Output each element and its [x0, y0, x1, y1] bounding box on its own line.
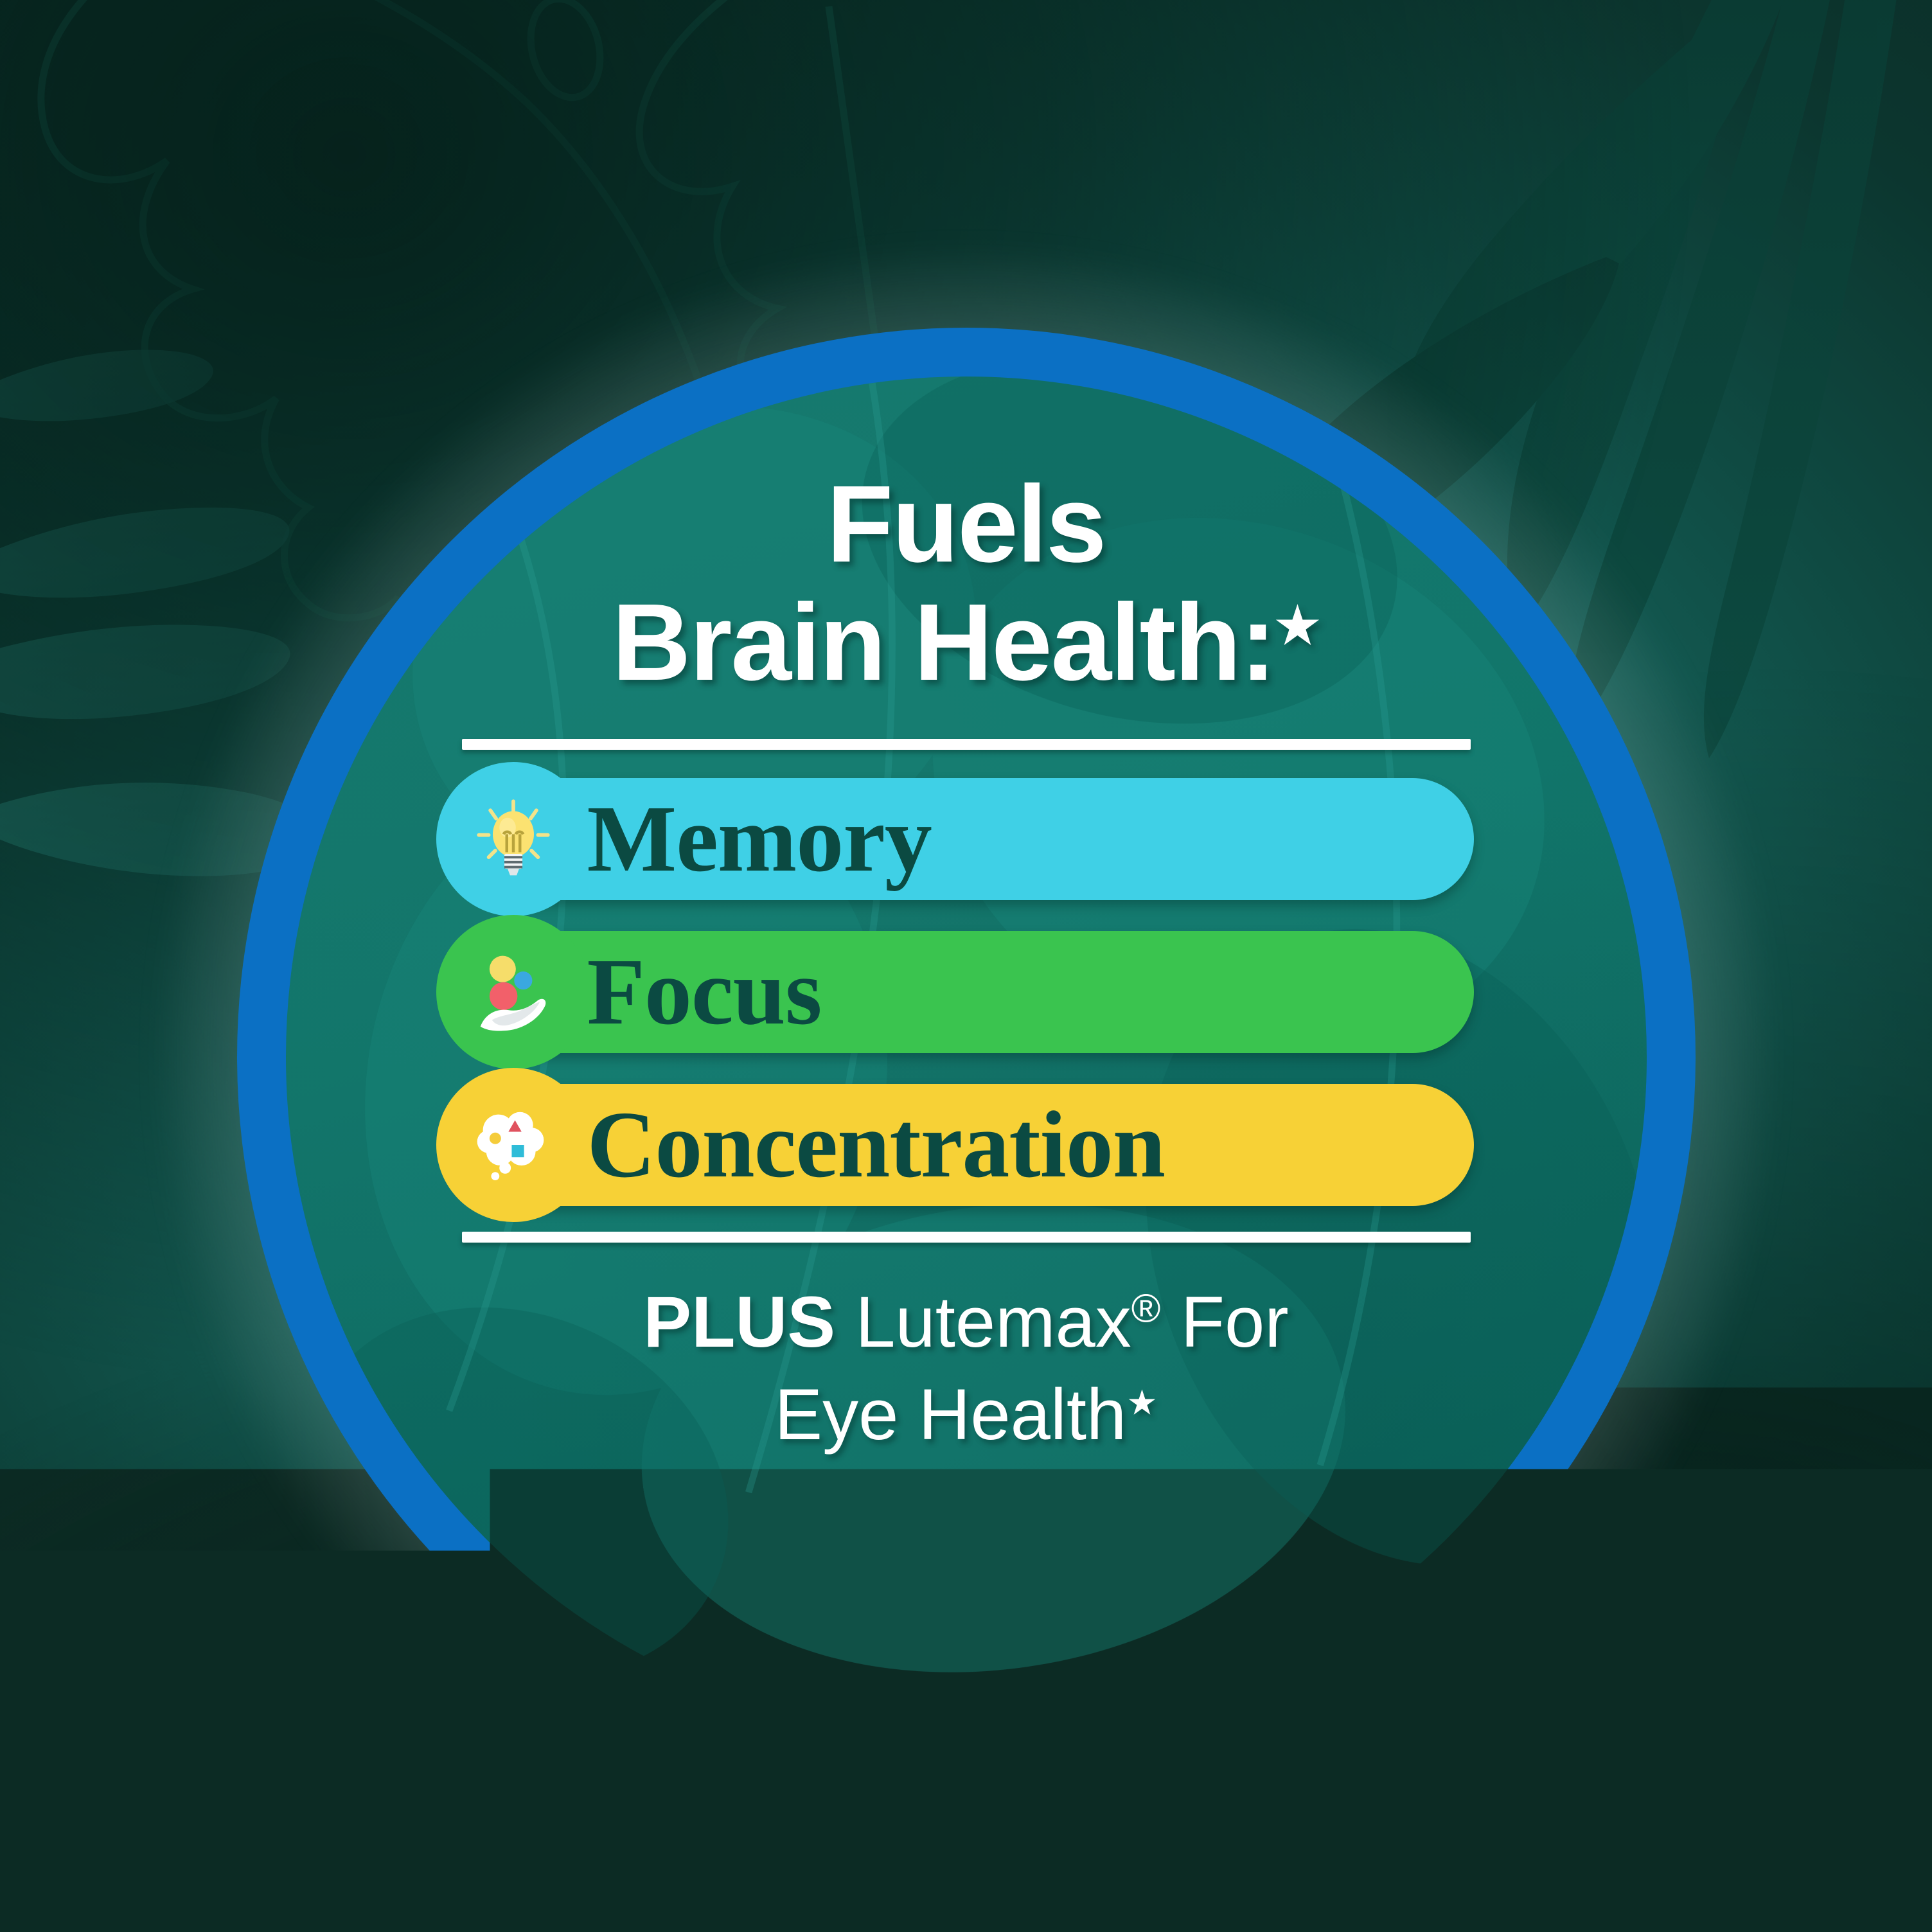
benefit-label-concentration: Concentration	[587, 1097, 1165, 1192]
promo-graphic: Fuels Brain Health:★	[0, 0, 1932, 1932]
plus-statement: PLUS Lutemax® For Eye Health★	[420, 1276, 1512, 1460]
thought-cloud-icon	[472, 1104, 554, 1186]
plus-for-word: For	[1160, 1282, 1288, 1362]
footer-bar: ★ THESE STATEMENTS HAVE NOT BEEN EVALUAT…	[0, 1876, 1932, 1932]
plus-eye-health-text: Eye Health	[774, 1374, 1126, 1455]
footer-disclaimer-text: THESE STATEMENTS HAVE NOT BEEN EVALUATED…	[33, 1891, 1932, 1917]
hand-balls-icon	[472, 951, 554, 1033]
benefit-badge-concentration	[436, 1068, 590, 1222]
divider-top	[462, 739, 1471, 750]
plus-product-name: Lutemax	[835, 1282, 1131, 1362]
headline-line-1: Fuels	[420, 466, 1512, 584]
footer-disclaimer: ★ THESE STATEMENTS HAVE NOT BEEN EVALUAT…	[9, 1891, 1932, 1918]
benefit-pill-concentration[interactable]: Concentration	[459, 1084, 1474, 1206]
benefit-pill-focus[interactable]: Focus	[459, 931, 1474, 1053]
plus-bold-word: PLUS	[643, 1282, 835, 1362]
plus-star-icon: ★	[1126, 1383, 1157, 1422]
benefit-pill-memory[interactable]: Memory	[459, 778, 1474, 900]
benefit-badge-memory	[436, 762, 590, 916]
benefit-label-memory: Memory	[587, 792, 932, 887]
lightbulb-icon	[472, 798, 554, 880]
headline-line-2-text: Brain Health:	[612, 581, 1275, 704]
headline: Fuels Brain Health:★	[420, 466, 1512, 702]
divider-bottom	[462, 1232, 1471, 1243]
benefit-badge-focus	[436, 915, 590, 1069]
benefit-label-focus: Focus	[587, 944, 822, 1040]
footer-inner: ★ THESE STATEMENTS HAVE NOT BEEN EVALUAT…	[0, 1881, 1932, 1927]
headline-star-icon: ★	[1275, 597, 1320, 653]
benefit-list: Memory Focus	[420, 778, 1512, 1206]
plus-line-2: Eye Health★	[420, 1369, 1512, 1460]
footer-star-icon: ★	[9, 1891, 28, 1917]
registered-mark-icon: ®	[1131, 1287, 1161, 1331]
headline-line-2: Brain Health:★	[420, 584, 1512, 702]
plus-line-1: PLUS Lutemax® For	[420, 1276, 1512, 1368]
